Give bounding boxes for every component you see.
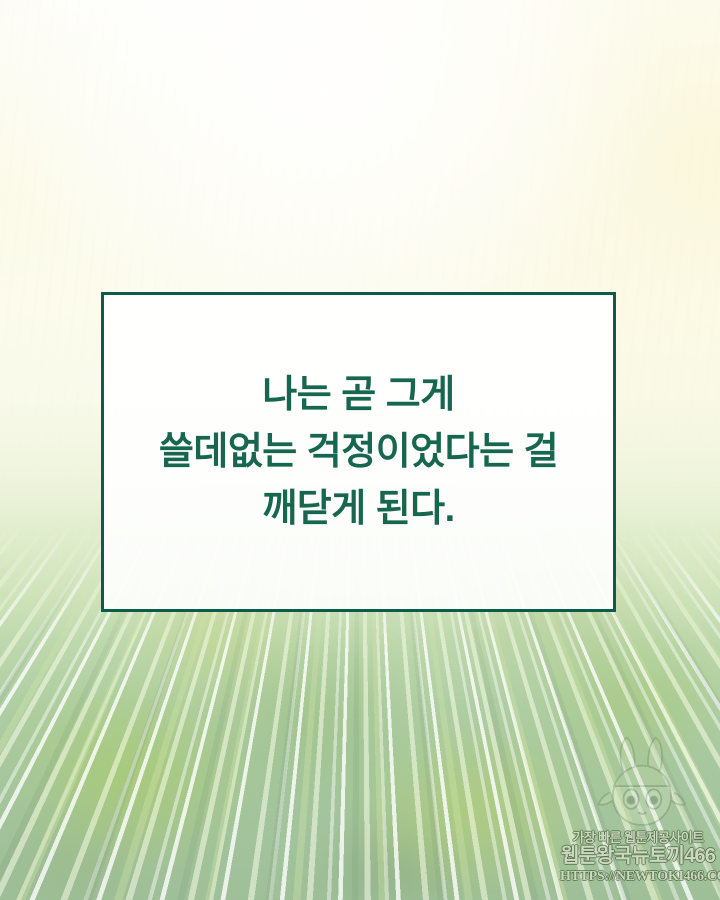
watermark-site-name: 웹툰왕국뉴토끼466 <box>560 846 716 868</box>
rabbit-mascot-icon <box>590 730 698 838</box>
narration-text: 나는 곧 그게 쓸데없는 걱정이었다는 걸 깨닫게 된다. <box>145 367 572 538</box>
narration-box: 나는 곧 그게 쓸데없는 걱정이었다는 걸 깨닫게 된다. <box>101 292 616 612</box>
comic-panel: 나는 곧 그게 쓸데없는 걱정이었다는 걸 깨닫게 된다. <box>0 0 720 900</box>
watermark-url: HTTPS://NEWTOKI466.COM <box>560 869 716 884</box>
site-watermark: 가장 빠른 웹툰제공사이트 웹툰왕국뉴토끼466 HTTPS://NEWTOKI… <box>560 831 716 884</box>
